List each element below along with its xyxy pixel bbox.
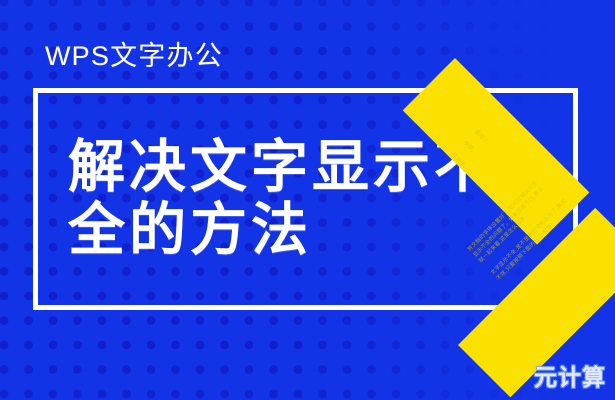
cover-canvas: WPS文字办公 解决文字显示不 全的方法 使用了, 使用, 的方法, 将文档的字…: [0, 0, 615, 400]
watermark: 元计算: [534, 358, 606, 392]
page-kicker: WPS文字办公: [45, 40, 223, 72]
page-title: 解决文字显示不 全的方法: [68, 136, 495, 262]
